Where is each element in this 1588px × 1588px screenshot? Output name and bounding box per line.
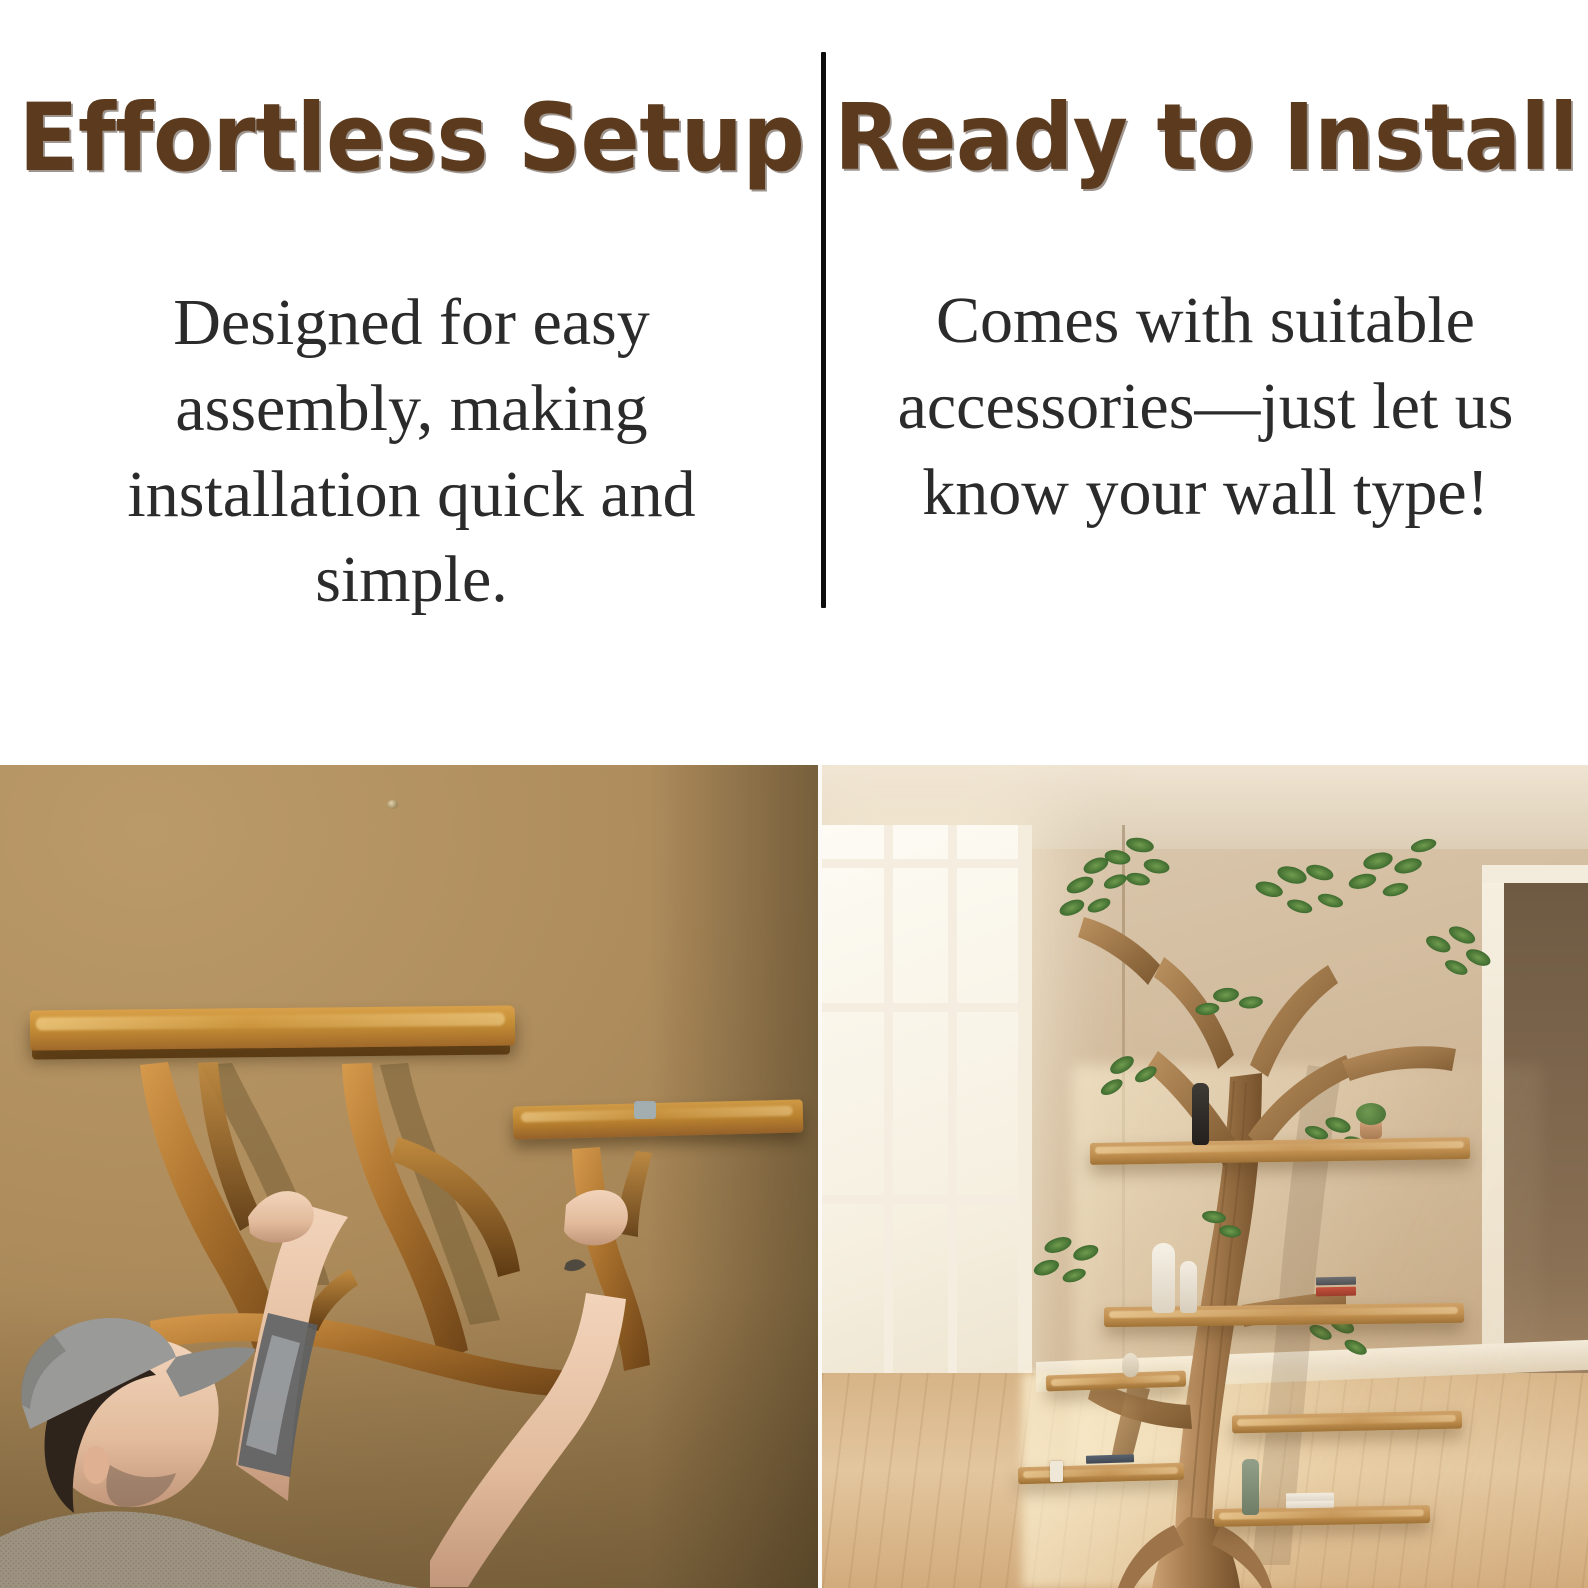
- branch-bracket-illustration: [0, 765, 818, 1588]
- headline-ready-to-install: Ready to Install: [834, 92, 1577, 184]
- man-right-hand: [564, 1190, 628, 1245]
- green-glass-bottle: [1242, 1459, 1259, 1515]
- feature-column-right: Ready to Install Comes with suitable acc…: [823, 0, 1588, 765]
- plant-foliage-icon: [1356, 1103, 1386, 1125]
- gourd-vase: [1122, 1353, 1139, 1377]
- body-text-effortless-setup: Designed for easy assembly, making insta…: [62, 280, 762, 623]
- branch-far-left: [1078, 917, 1160, 985]
- wall-outlet: [1050, 1461, 1063, 1482]
- headline-effortless-setup: Effortless Setup: [19, 92, 805, 186]
- body-text-ready-to-install: Comes with suitable accessories—just let…: [856, 278, 1556, 535]
- branch-top-left: [1154, 957, 1234, 1069]
- feature-column-left: Effortless Setup Designed for easy assem…: [0, 0, 823, 765]
- white-vase-tall: [1152, 1243, 1175, 1313]
- branch-top-right: [1250, 965, 1338, 1077]
- feature-text-panel: Effortless Setup Designed for easy assem…: [0, 0, 1588, 765]
- column-divider: [821, 52, 826, 608]
- book-grey-top: [1316, 1277, 1356, 1286]
- photo-installing-branch-shelf: [0, 765, 818, 1588]
- man-ear: [83, 1446, 109, 1484]
- tree-foliage: [1026, 832, 1498, 1359]
- white-vase-short: [1180, 1261, 1197, 1313]
- infographic-page: Effortless Setup Designed for easy assem…: [0, 0, 1588, 1588]
- hardware-tag-icon: [634, 1101, 656, 1119]
- photo-styled-tree-shelf-room: [822, 765, 1588, 1588]
- photo-strip: [0, 765, 1588, 1588]
- book-navy-shelf-left: [1086, 1454, 1134, 1464]
- book-cream-stack-2: [1286, 1501, 1334, 1509]
- potted-plant: [1360, 1121, 1382, 1139]
- tree-shelf-illustration: [822, 765, 1588, 1588]
- black-cylinder-vase: [1192, 1083, 1209, 1145]
- book-red: [1316, 1287, 1356, 1297]
- forearm-tattoo-icon: [564, 1259, 586, 1271]
- branch-far-right: [1342, 1046, 1456, 1081]
